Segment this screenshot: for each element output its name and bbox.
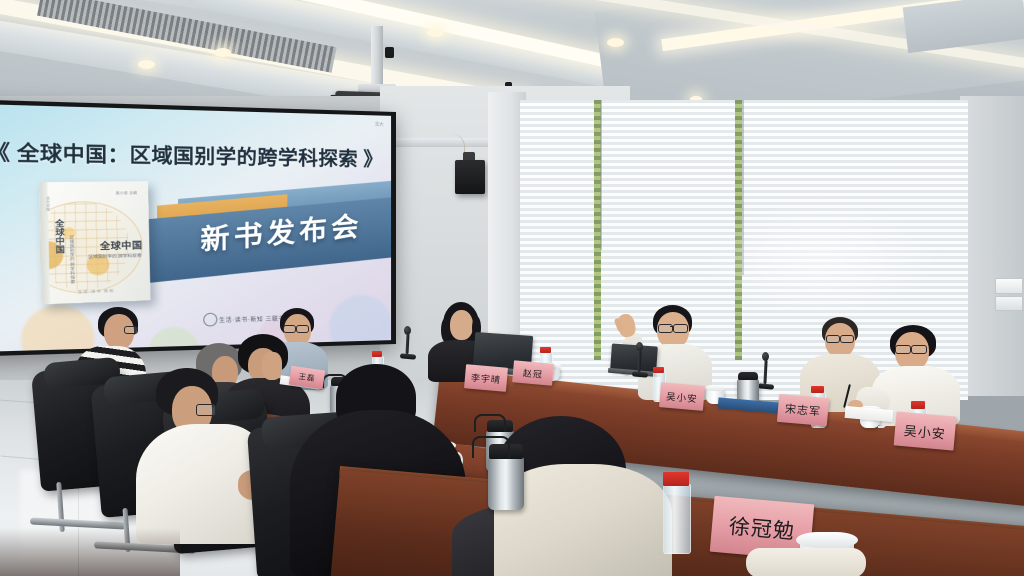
water-bottle[interactable] [663,484,691,554]
bottle-cap [653,367,664,373]
thermos-flask[interactable] [488,456,524,510]
thermos-lid [738,372,758,380]
right-wall [960,96,1024,396]
power-outlet[interactable] [995,296,1023,311]
nameplate: 赵冠 [512,360,554,385]
power-outlet[interactable] [995,278,1023,294]
glasses-icon [283,325,296,333]
downlight-icon [138,60,155,69]
bottle-cap [811,386,824,393]
nameplate: 吴小安 [659,382,705,411]
slide-corner-badge: 北大 [375,121,384,127]
downlight-icon [214,48,231,57]
downlight-icon [427,28,444,37]
nameplate: 吴小安 [894,411,957,450]
glasses-icon [673,324,688,333]
table-shadow [0,528,180,576]
slide-title: 《 全球中国：区域国别学的跨学科探索 》 [0,136,391,172]
thermos-handle[interactable] [472,436,510,458]
ceiling-sensor-icon [385,47,394,58]
thermos-handle[interactable] [474,414,506,432]
hair-side [441,318,450,342]
blind-cord[interactable] [600,100,602,250]
window-glare [700,200,940,320]
book-spine-title: 全球中国 [53,219,67,254]
bottle-cap [663,472,689,486]
mug-lid [796,532,858,548]
publisher-logo-icon [203,313,217,327]
book-editor-credit: 吴小安 主编 [116,191,138,197]
glasses-icon [840,335,854,343]
mug-lid [705,385,725,391]
glasses-icon [196,404,216,416]
book-imprint: 生活·读书·新知 [41,288,149,297]
speaker-cable [436,133,465,157]
face [450,310,473,340]
projection-screen: 北大 《 全球中国：区域国别学的跨学科探索 》 新书发布会 北大文库 全球中国 … [0,104,391,352]
nameplate: 李宇晴 [464,364,508,392]
glasses-icon [911,345,927,354]
nameplate: 宋志军 [777,394,829,426]
bottle-cap [911,401,925,409]
book-spine-subtitle: 区域国别学的 跨学科探索 [68,236,76,285]
projection-screen-frame: 北大 《 全球中国：区域国别学的跨学科探索 》 新书发布会 北大文库 全球中国 … [0,99,396,356]
projector-mount-pole [371,26,383,88]
glasses-icon [296,325,309,333]
book-spine-top-text: 北大文库 [45,197,51,212]
bottle-cap [540,347,551,353]
glasses-icon [826,335,840,343]
bottle-cap [372,351,382,357]
conference-room-photo: 北大 《 全球中国：区域国别学的跨学科探索 》 新书发布会 北大文库 全球中国 … [0,0,1024,576]
book-cover-image: 北大文库 全球中国 区域国别学的 跨学科探索 吴小安 主编 全球中国 区域国别学… [39,182,150,305]
glasses-icon [124,326,138,334]
wall-speaker [455,160,485,194]
downlight-icon [607,38,624,47]
hand-on-face [262,352,282,380]
glasses-icon [895,345,911,354]
glasses-bridge [670,326,674,327]
folded-napkin [746,548,866,576]
book-title: 全球中国 [100,238,143,253]
